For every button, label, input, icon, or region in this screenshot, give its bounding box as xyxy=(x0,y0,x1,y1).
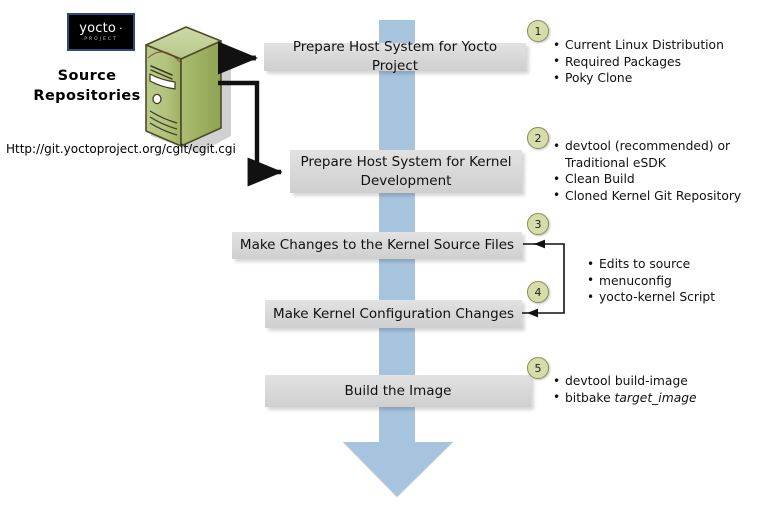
step-3-box[interactable]: Make Changes to the Kernel Source Files xyxy=(232,232,522,259)
list-item: Edits to source xyxy=(586,256,766,273)
server-icon xyxy=(146,27,231,153)
logo-dot: · xyxy=(119,22,123,35)
step-4-box-label: Make Kernel Configuration Changes xyxy=(273,305,514,324)
list-item: devtool build-image xyxy=(552,373,764,390)
step-2-box-label-line2: Development xyxy=(361,173,452,189)
source-repositories-label: Source Repositories xyxy=(28,66,146,106)
step-2-box-label-line1: Prepare Host System for Kernel xyxy=(300,154,511,170)
step-4-box[interactable]: Make Kernel Configuration Changes xyxy=(265,300,522,328)
step-badge-1: 1 xyxy=(527,20,549,42)
bitbake-target-argument: target_image xyxy=(615,391,697,405)
step-badge-4: 4 xyxy=(527,281,549,303)
list-item-continuation: Traditional eSDK xyxy=(552,155,764,172)
bitbake-command: bitbake xyxy=(565,391,615,405)
step-2-box[interactable]: Prepare Host System for Kernel Developme… xyxy=(290,150,522,193)
step-badge-3: 3 xyxy=(527,213,549,235)
list-item: Current Linux Distribution xyxy=(552,37,764,54)
list-item: devtool (recommended) or xyxy=(552,138,764,155)
yocto-project-logo: yocto · PROJECT xyxy=(67,13,135,51)
step-1-bullet-list: Current Linux Distribution Required Pack… xyxy=(552,37,764,87)
logo-wordmark: yocto xyxy=(79,22,116,35)
step-5-box-label: Build the Image xyxy=(345,382,452,401)
logo-subtitle: PROJECT xyxy=(84,36,117,43)
list-item: Poky Clone xyxy=(552,70,764,87)
list-item: bitbake target_image xyxy=(552,390,764,407)
step-5-bullet-list: devtool build-image bitbake target_image xyxy=(552,373,764,406)
list-item: Required Packages xyxy=(552,54,764,71)
diagram-canvas: yocto · PROJECT Source Repositories Http… xyxy=(0,0,769,517)
step-2-box-label: Prepare Host System for Kernel Developme… xyxy=(300,153,511,191)
source-label-line1: Source xyxy=(28,66,146,86)
list-item: Cloned Kernel Git Repository xyxy=(552,188,764,205)
list-item: yocto-kernel Script xyxy=(586,289,766,306)
connector-bracket-steps-3-4 xyxy=(521,240,564,318)
step-2-bullet-list: devtool (recommended) or Traditional eSD… xyxy=(552,138,764,204)
step-5-box[interactable]: Build the Image xyxy=(265,375,531,407)
list-item: menuconfig xyxy=(586,273,766,290)
step-1-box[interactable]: Prepare Host System for Yocto Project xyxy=(264,43,526,71)
step-1-box-label: Prepare Host System for Yocto Project xyxy=(270,38,520,76)
source-repository-url: Http://git.yoctoproject.org/cgit/cgit.cg… xyxy=(6,142,236,156)
source-label-line2: Repositories xyxy=(28,86,146,106)
step-badge-5: 5 xyxy=(527,357,549,379)
step-badge-2: 2 xyxy=(527,127,549,149)
list-item: Clean Build xyxy=(552,171,764,188)
steps-3-4-bullet-list: Edits to source menuconfig yocto-kernel … xyxy=(586,256,766,306)
step-3-box-label: Make Changes to the Kernel Source Files xyxy=(240,236,514,255)
